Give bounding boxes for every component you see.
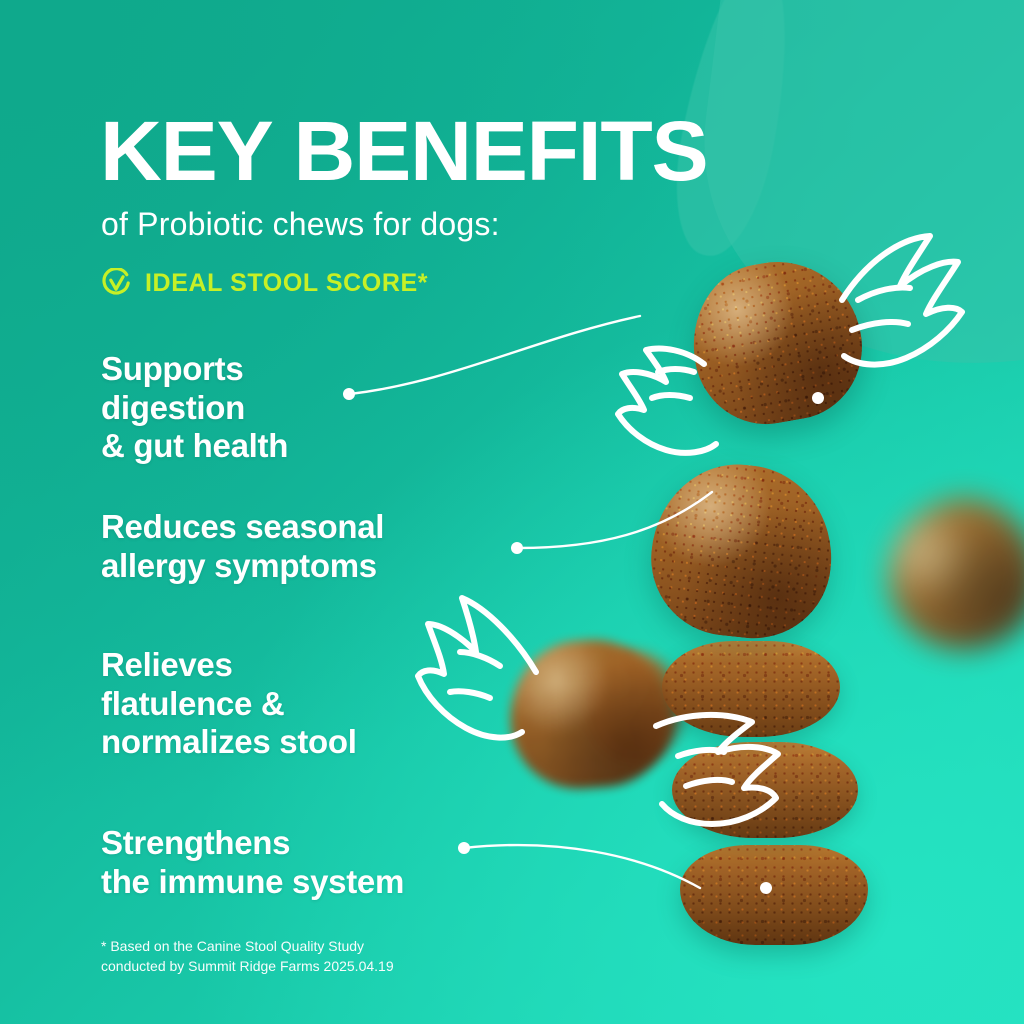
winged-heart-chew-top (680, 249, 873, 436)
benefit-item-relieves-flatulence: Relieves flatulence & normalizes stool (101, 646, 357, 762)
page-subtitle: of Probiotic chews for dogs: (101, 206, 500, 243)
blurred-chew-stack-edge (586, 652, 682, 764)
angel-wing-left-upper (418, 598, 536, 738)
ideal-stool-score-badge: IDEAL STOOL SCORE* (101, 268, 428, 298)
watermark-check-swoosh (672, 0, 1024, 397)
key-benefits-infographic: KEY BENEFITS of Probiotic chews for dogs… (0, 0, 1024, 1024)
benefit-item-reduces-allergy: Reduces seasonal allergy symptoms (101, 508, 384, 585)
footnote-disclaimer: * Based on the Canine Stool Quality Stud… (101, 936, 394, 977)
connector-dot-strengthens-immune (458, 842, 470, 854)
heart-chew-stack-top (644, 456, 841, 646)
connector-supports-digestion (350, 316, 640, 394)
connector-dot-reduces-allergy (511, 542, 523, 554)
connector-lines (350, 316, 712, 888)
benefit-item-strengthens-immune: Strengthens the immune system (101, 824, 404, 901)
connector-reduces-allergy (518, 492, 712, 548)
connector-anchor-dot-bottom-chew (760, 882, 772, 894)
chew-disc-upper (662, 641, 840, 737)
connector-dot-supports-digestion (343, 388, 355, 400)
chew-disc-bottom (680, 845, 868, 945)
check-circle-icon (101, 268, 131, 298)
benefit-item-supports-digestion: Supports digestion & gut health (101, 350, 288, 466)
angel-wing-top-right (842, 236, 962, 365)
chew-disc-middle (672, 742, 858, 838)
winged-heart-chew-left (505, 635, 675, 794)
angel-wing-top-left (618, 349, 716, 453)
page-title: KEY BENEFITS (100, 112, 707, 192)
angel-wing-left-lower (656, 715, 778, 824)
connector-strengthens-immune (464, 845, 700, 888)
connector-anchor-dot-top-heart (812, 392, 824, 404)
blurred-chew-right (865, 477, 1024, 672)
ideal-stool-score-label: IDEAL STOOL SCORE* (145, 269, 428, 298)
connector-dots (343, 388, 824, 894)
